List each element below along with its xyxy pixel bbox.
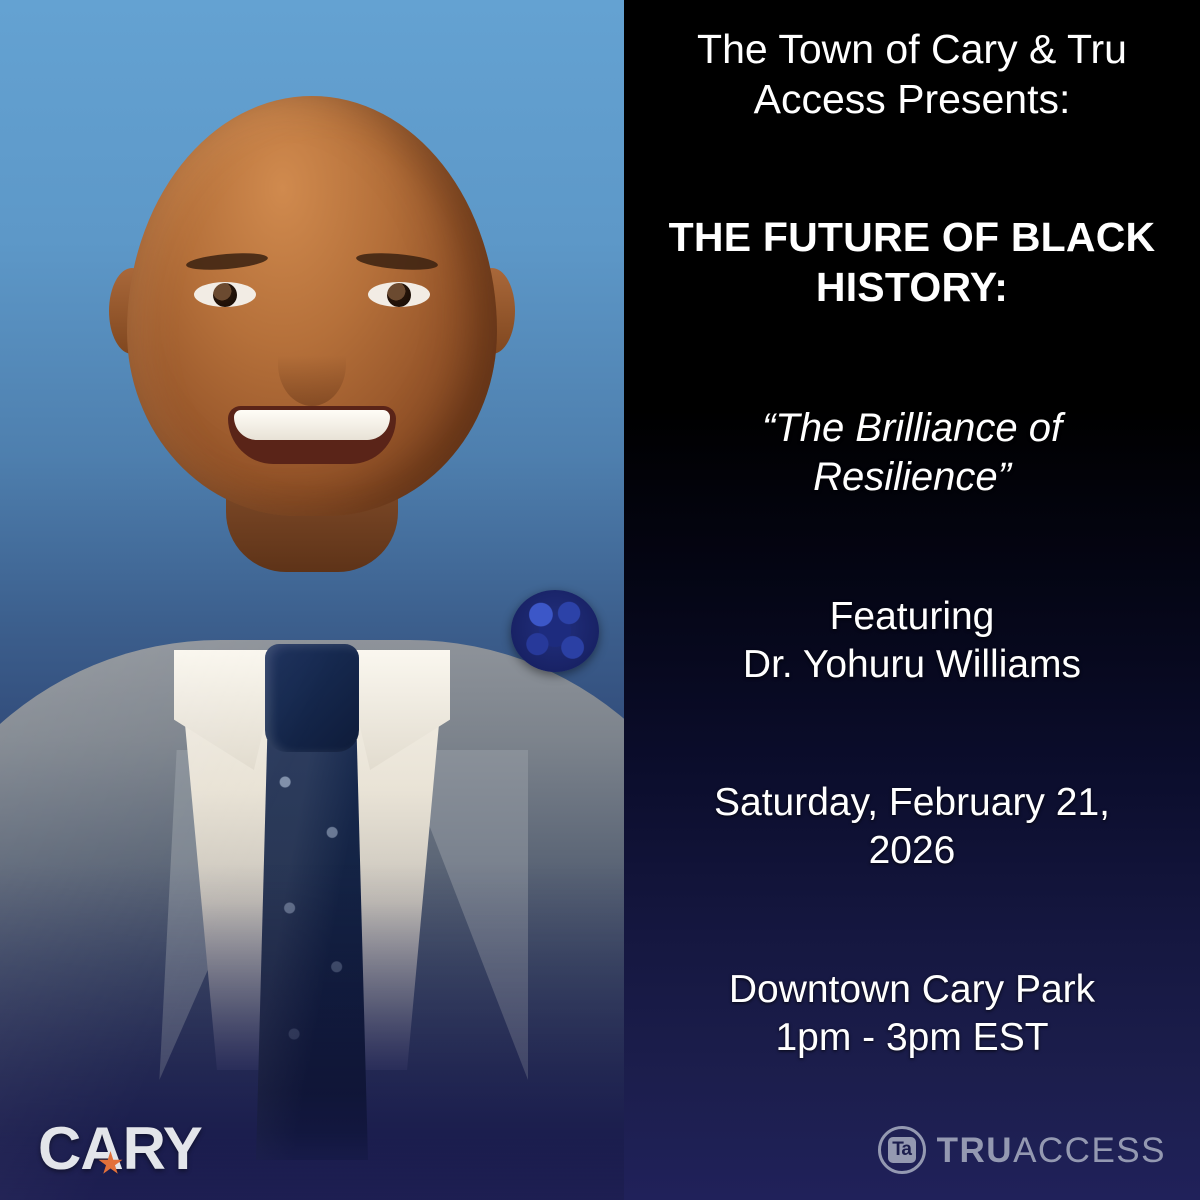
presenter-block: The Town of Cary & Tru Access Presents: [648, 24, 1176, 124]
event-date-line-1: Saturday, February 21, [648, 779, 1176, 827]
teeth [234, 410, 390, 440]
presenter-line-1: The Town of Cary & Tru [648, 24, 1176, 74]
truaccess-name-bold: TRU [937, 1131, 1013, 1170]
event-poster: CARY The Town of Cary & Tru Access Prese… [0, 0, 1200, 1200]
speaker-portrait-photo: CARY [0, 0, 624, 1200]
event-time: 1pm - 3pm EST [648, 1014, 1176, 1062]
eye-right [368, 282, 430, 307]
event-venue: Downtown Cary Park [648, 966, 1176, 1014]
event-date-line-2: 2026 [648, 827, 1176, 875]
nose [278, 322, 346, 406]
featuring-label: Featuring [648, 593, 1176, 641]
event-venue-block: Downtown Cary Park 1pm - 3pm EST [648, 966, 1176, 1061]
featuring-block: Featuring Dr. Yohuru Williams [648, 593, 1176, 688]
event-details-panel: The Town of Cary & Tru Access Presents: … [624, 0, 1200, 1200]
speaker-name: Dr. Yohuru Williams [648, 641, 1176, 689]
truaccess-monogram-text: Ta [888, 1137, 916, 1163]
event-date-block: Saturday, February 21, 2026 [648, 779, 1176, 874]
presenter-line-2: Access Presents: [648, 74, 1176, 124]
cary-logo: CARY [38, 1120, 202, 1178]
eye-left [194, 282, 256, 307]
event-subtitle-line-1: “The Brilliance of [648, 404, 1176, 453]
truaccess-monogram-icon: Ta [878, 1126, 926, 1174]
truaccess-logo: Ta TRUACCESS [878, 1126, 1166, 1174]
event-subtitle-block: “The Brilliance of Resilience” [648, 404, 1176, 502]
event-title-line-2: HISTORY: [648, 262, 1176, 312]
event-title-line-1: THE FUTURE OF BLACK [648, 212, 1176, 262]
truaccess-wordmark: TRUACCESS [937, 1133, 1166, 1168]
cary-wordmark: CARY [38, 1119, 202, 1179]
truaccess-name-light: ACCESS [1013, 1131, 1166, 1170]
mouth [228, 406, 396, 464]
event-title-block: THE FUTURE OF BLACK HISTORY: [648, 212, 1176, 312]
event-subtitle-line-2: Resilience” [648, 453, 1176, 502]
